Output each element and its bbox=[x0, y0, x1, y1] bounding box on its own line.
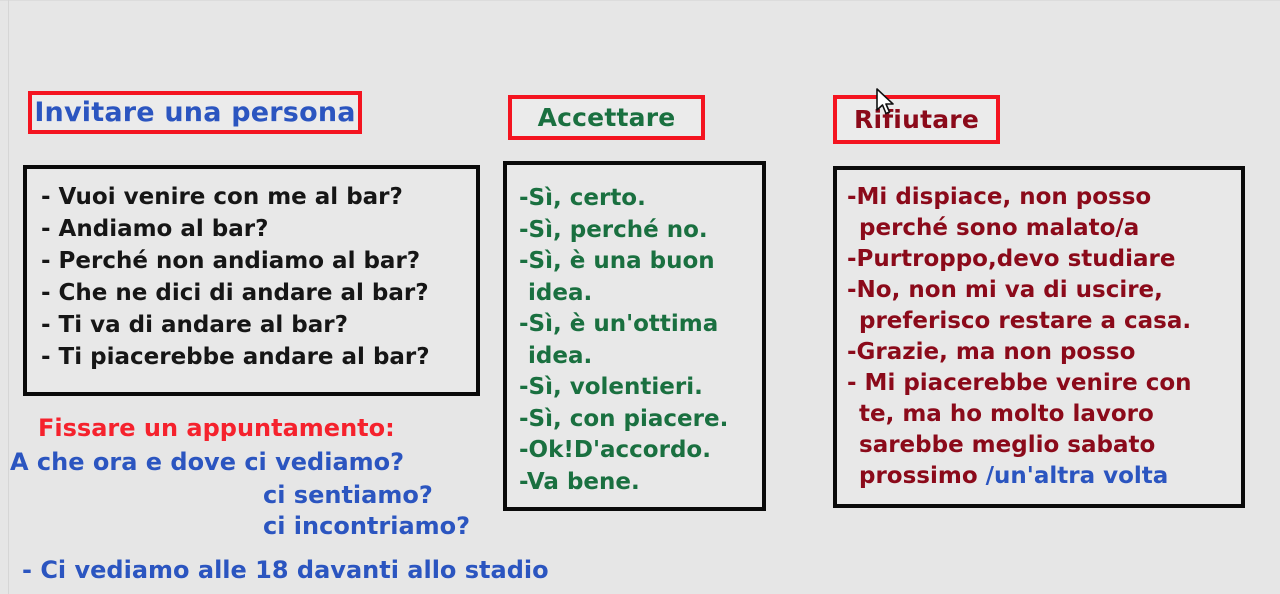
appointment-heading: Fissare un appuntamento: bbox=[38, 414, 395, 442]
title-chip-invitare: Invitare una persona bbox=[28, 91, 362, 134]
slide-canvas: Invitare una persona - Vuoi venire con m… bbox=[0, 0, 1280, 594]
title-chip-rifiutare: Rifiutare bbox=[833, 95, 1000, 144]
list-item: -Sì, perché no. bbox=[519, 215, 762, 247]
list-item-continuation: idea. bbox=[519, 341, 762, 373]
alternative-tail: /un'altra volta bbox=[986, 463, 1169, 489]
appointment-question-alt-2: ci incontriamo? bbox=[263, 512, 470, 540]
list-item: - Ti va di andare al bar? bbox=[41, 309, 476, 341]
list-item-continuation-alternatives: prossimo /un'altra volta bbox=[847, 461, 1241, 492]
title-invitare-label: Invitare una persona bbox=[34, 97, 355, 128]
list-item: - Ti piacerebbe andare al bar? bbox=[41, 341, 476, 373]
appointment-answer: - Ci vediamo alle 18 davanti allo stadio bbox=[22, 556, 549, 584]
list-item-continuation: perché sono malato/a bbox=[847, 213, 1241, 244]
title-accettare-label: Accettare bbox=[538, 103, 676, 132]
title-chip-accettare: Accettare bbox=[508, 95, 705, 140]
content-box-invitare: - Vuoi venire con me al bar? - Andiamo a… bbox=[23, 165, 480, 396]
list-item: -Ok!D'accordo. bbox=[519, 435, 762, 467]
list-item: - Mi piacerebbe venire con bbox=[847, 368, 1241, 399]
list-item-continuation: te, ma ho molto lavoro bbox=[847, 399, 1241, 430]
list-item: -Sì, è un'ottima bbox=[519, 309, 762, 341]
list-item: -Sì, certo. bbox=[519, 183, 762, 215]
list-item: -No, non mi va di uscire, bbox=[847, 275, 1241, 306]
content-box-accettare: -Sì, certo. -Sì, perché no. -Sì, è una b… bbox=[503, 161, 766, 511]
content-box-rifiutare: -Mi dispiace, non posso perché sono mala… bbox=[833, 166, 1245, 508]
list-item: -Sì, volentieri. bbox=[519, 372, 762, 404]
list-item-continuation: sarebbe meglio sabato bbox=[847, 430, 1241, 461]
list-item: -Sì, è una buon bbox=[519, 246, 762, 278]
list-item: -Va bene. bbox=[519, 467, 762, 499]
appointment-question-main: A che ora e dove ci vediamo? bbox=[10, 448, 404, 476]
appointment-question-alt-1: ci sentiamo? bbox=[263, 481, 433, 509]
list-item-continuation: preferisco restare a casa. bbox=[847, 306, 1241, 337]
title-rifiutare-label: Rifiutare bbox=[854, 105, 979, 134]
list-item: - Che ne dici di andare al bar? bbox=[41, 277, 476, 309]
list-item: - Andiamo al bar? bbox=[41, 213, 476, 245]
list-item: -Purtroppo,devo studiare bbox=[847, 244, 1241, 275]
list-item-continuation: idea. bbox=[519, 278, 762, 310]
list-item: - Vuoi venire con me al bar? bbox=[41, 181, 476, 213]
list-item: - Perché non andiamo al bar? bbox=[41, 245, 476, 277]
list-item: -Sì, con piacere. bbox=[519, 404, 762, 436]
list-item: -Mi dispiace, non posso bbox=[847, 182, 1241, 213]
list-item: -Grazie, ma non posso bbox=[847, 337, 1241, 368]
alternative-prefix: prossimo bbox=[859, 463, 986, 489]
